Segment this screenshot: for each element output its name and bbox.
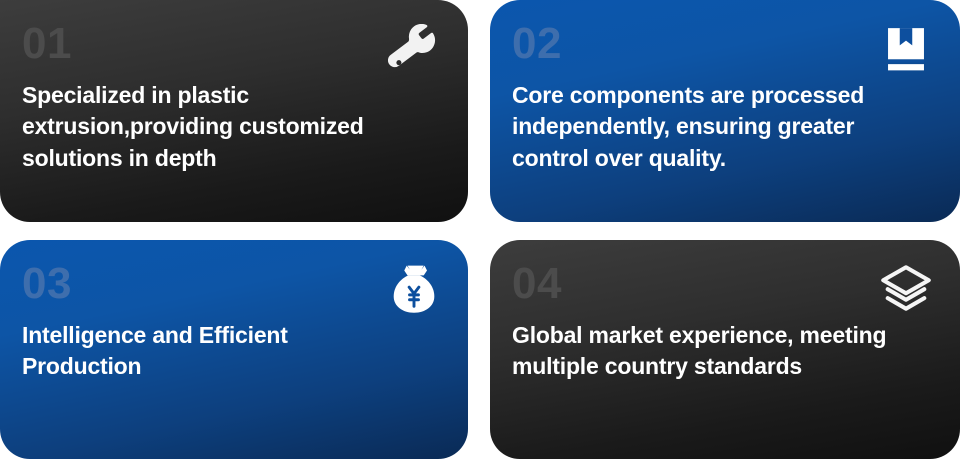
feature-card-02[interactable]: 02 Core components are processed indepen…: [490, 0, 960, 222]
card-title: Intelligence and Efficient Production: [22, 320, 358, 383]
feature-card-03[interactable]: 03 Intelligence and Efficient Production: [0, 240, 468, 459]
card-number: 04: [512, 262, 934, 306]
card-number: 02: [512, 22, 934, 66]
feature-cards-grid: 01 Specialized in plastic extrusion,prov…: [0, 0, 960, 459]
feature-card-04[interactable]: 04 Global market experience, meeting mul…: [490, 240, 960, 459]
card-number: 03: [22, 262, 442, 306]
card-title: Specialized in plastic extrusion,providi…: [22, 80, 417, 174]
card-title: Core components are processed independen…: [512, 80, 909, 174]
feature-card-01[interactable]: 01 Specialized in plastic extrusion,prov…: [0, 0, 468, 222]
card-number: 01: [22, 22, 442, 66]
card-title: Global market experience, meeting multip…: [512, 320, 909, 383]
